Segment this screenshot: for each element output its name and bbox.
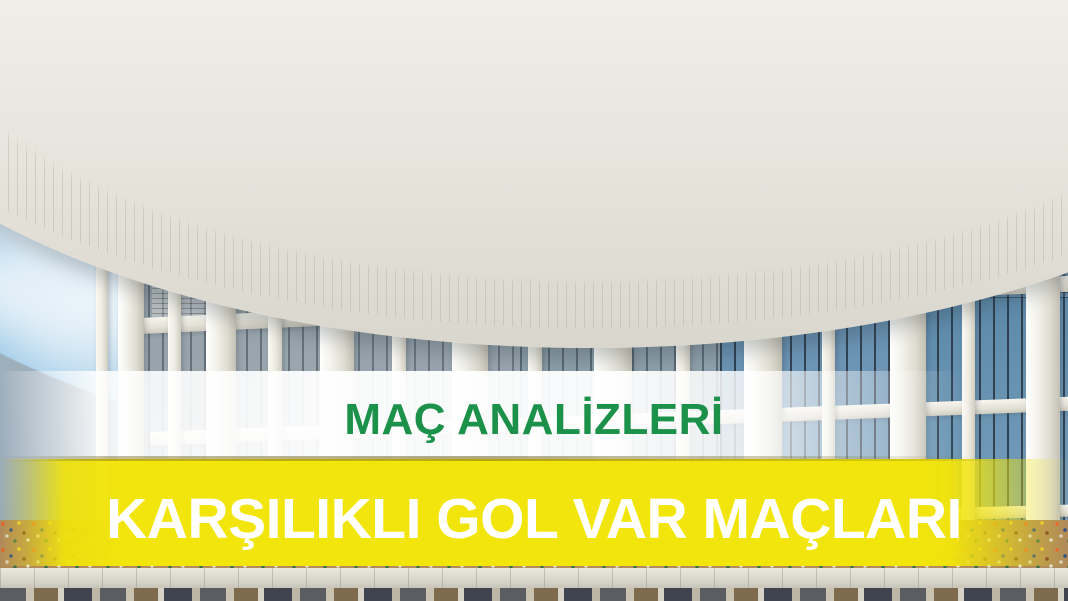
headline-text: KARŞILIKLI GOL VAR MAÇLARI [0,489,1068,549]
lower-tier [0,588,1068,601]
concourse-tier [0,568,1068,590]
promo-banner-image: MAÇ ANALİZLERİ KARŞILIKLI GOL VAR MAÇLAR… [0,0,1068,601]
yellow-banner-top-edge [0,459,1068,461]
kicker-text: MAÇ ANALİZLERİ [0,396,1068,444]
